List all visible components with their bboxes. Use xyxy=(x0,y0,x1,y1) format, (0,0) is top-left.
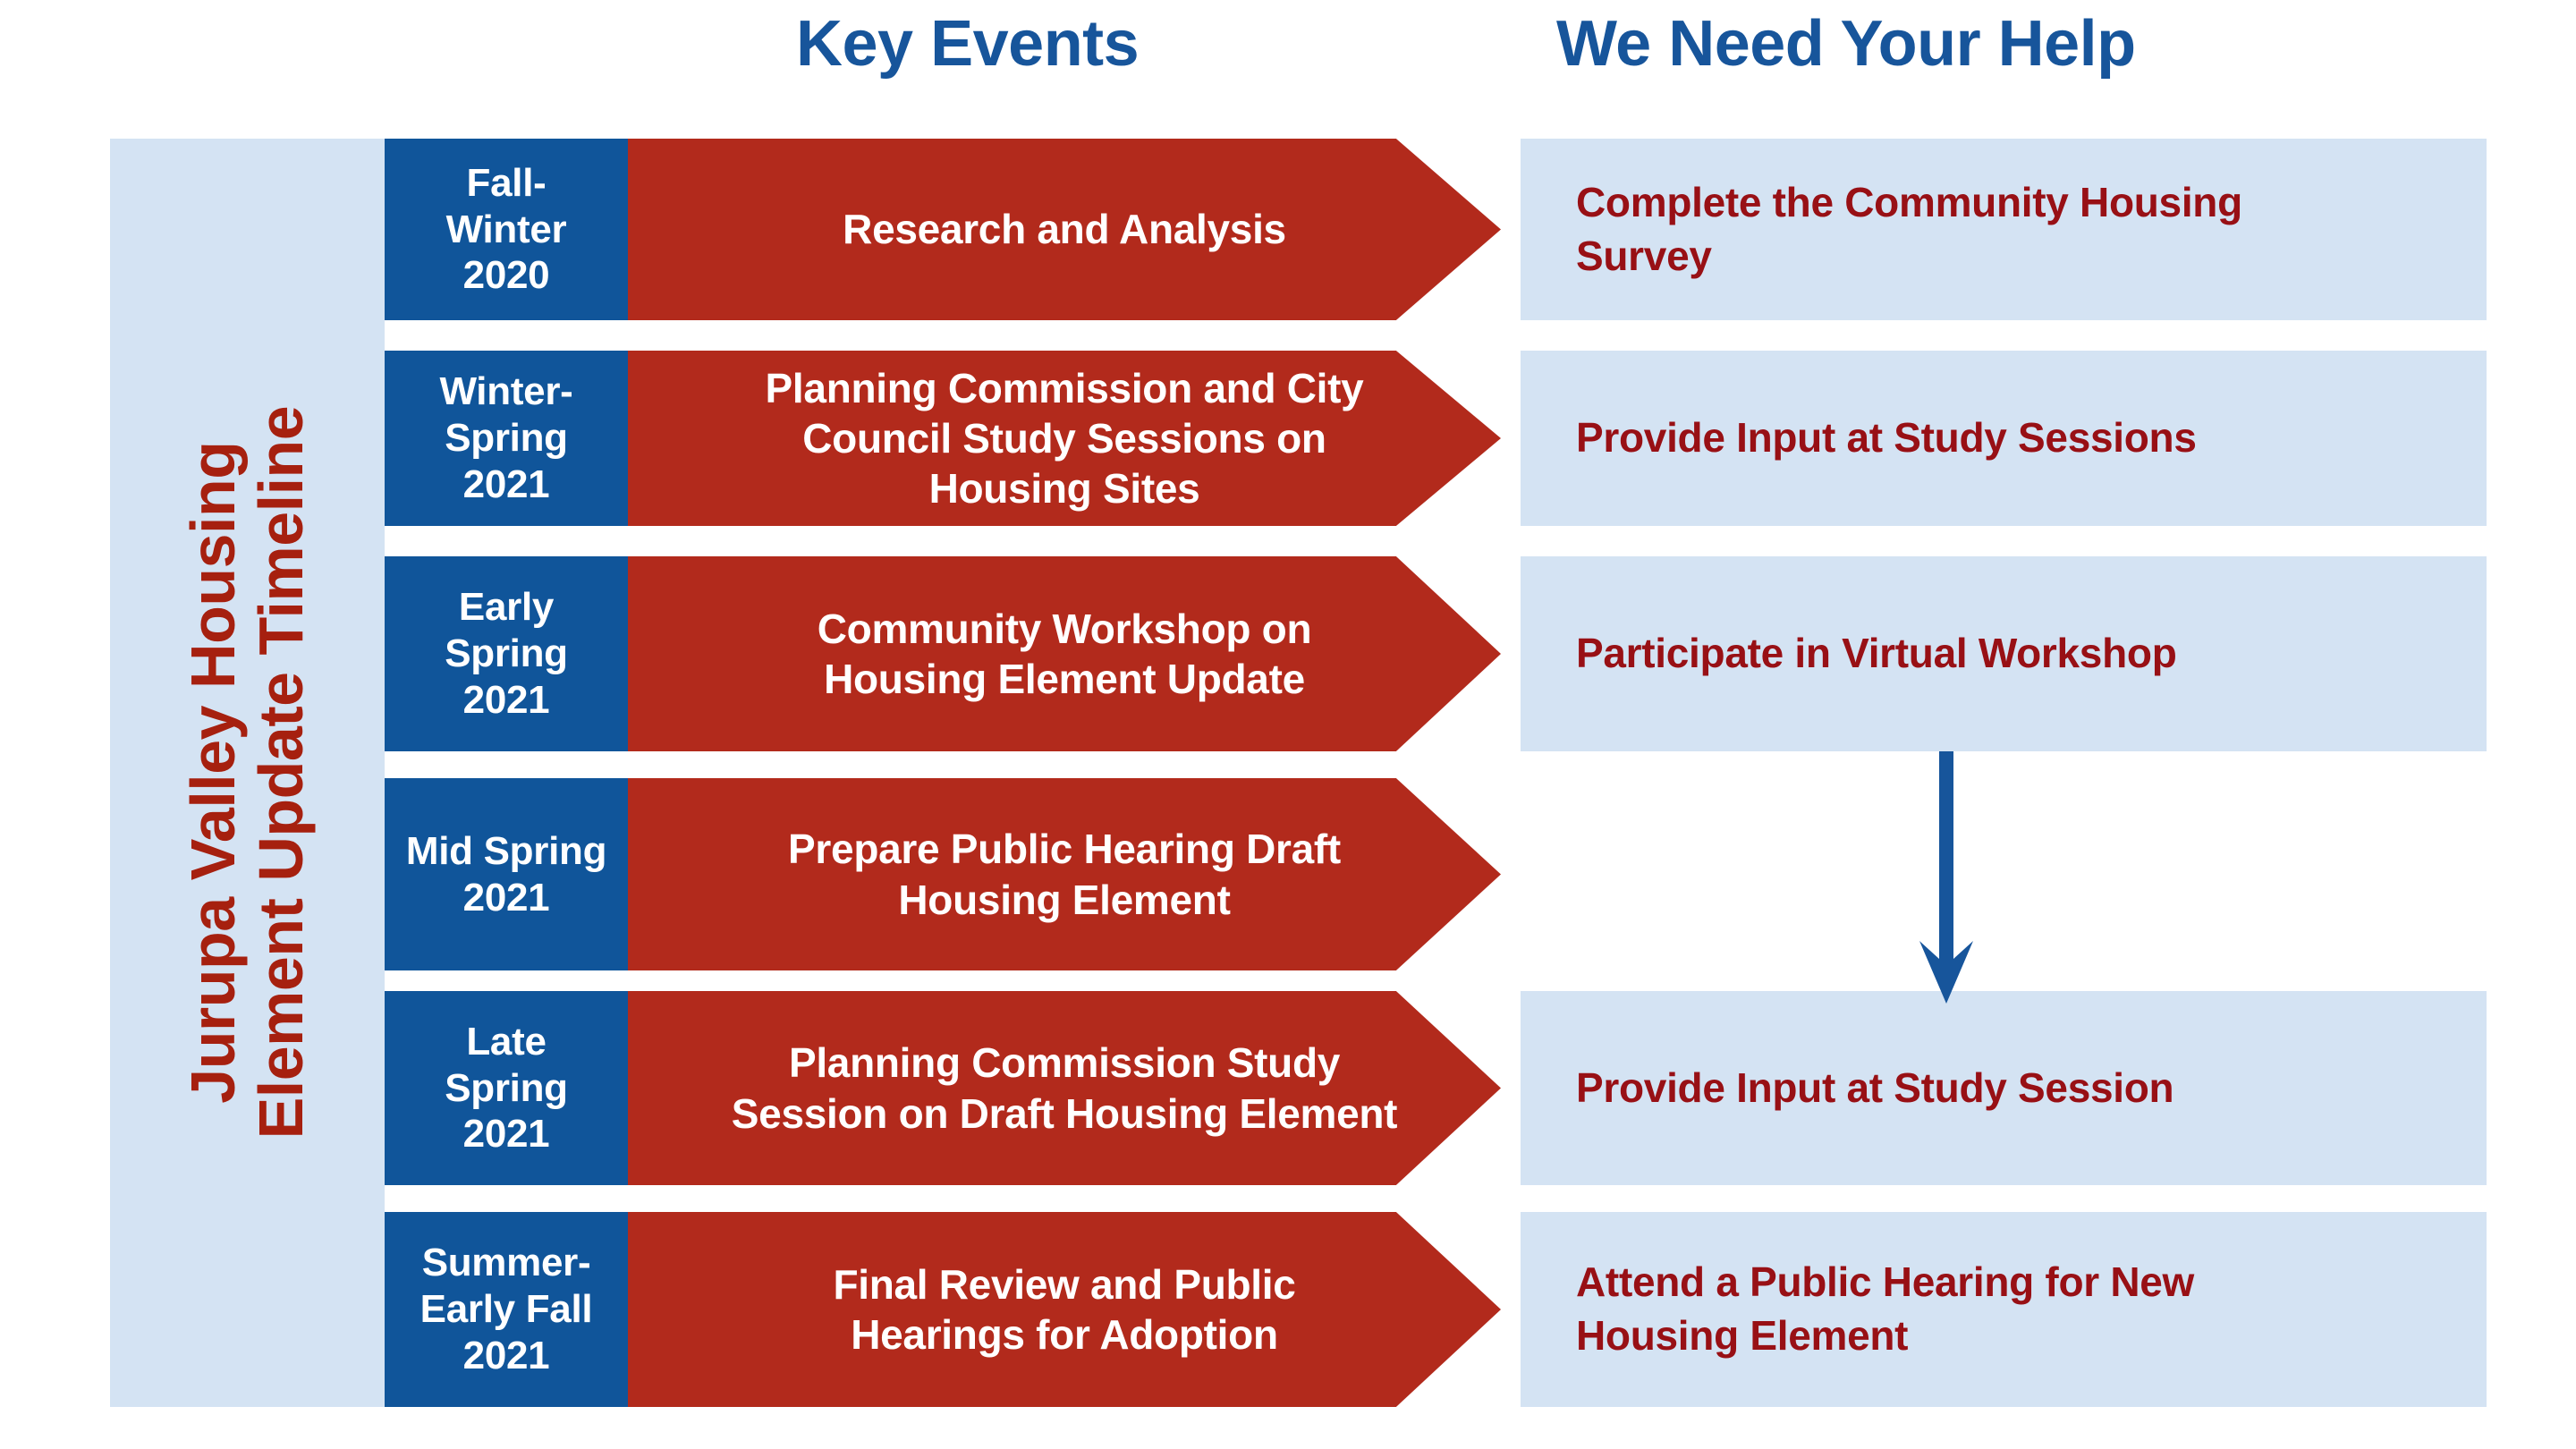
timeline-date-line: Winter- xyxy=(439,369,572,415)
help-action-line: Housing Element xyxy=(1576,1309,2470,1363)
timeline-event-line: Planning Commission Study xyxy=(780,1038,1349,1088)
timeline-event-line: Housing Element Update xyxy=(815,654,1314,704)
timeline-date-line: Fall- xyxy=(467,160,547,207)
help-action-text: Participate in Virtual Workshop xyxy=(1576,556,2470,751)
timeline-date-line: 2021 xyxy=(463,1333,550,1379)
left-title-panel: Jurupa Valley Housing Element Update Tim… xyxy=(110,139,385,1407)
timeline-date-line: 2021 xyxy=(463,462,550,508)
timeline-date-line: Early xyxy=(459,584,554,631)
column-header-key-events: Key Events xyxy=(796,7,1139,80)
help-action-text: Complete the Community HousingSurvey xyxy=(1576,139,2470,320)
page-title: Jurupa Valley Housing Element Update Tim… xyxy=(180,406,315,1140)
timeline-event-line: Final Review and Public xyxy=(824,1259,1304,1309)
timeline-date-line: Winter xyxy=(446,207,567,253)
timeline-event-line: Housing Sites xyxy=(920,463,1209,513)
help-action-line: Complete the Community Housing xyxy=(1576,176,2470,230)
help-action-text: Attend a Public Hearing for NewHousing E… xyxy=(1576,1212,2470,1407)
page-title-line-2: Element Update Timeline xyxy=(248,406,316,1140)
timeline-infographic: Key Events We Need Your Help Jurupa Vall… xyxy=(0,0,2576,1449)
timeline-date-line: Early Fall xyxy=(420,1286,593,1333)
left-title-rotation-wrapper: Jurupa Valley Housing Element Update Tim… xyxy=(110,139,385,1407)
timeline-event-line: Planning Commission and City xyxy=(757,363,1373,413)
timeline-date-line: Spring xyxy=(445,415,568,462)
timeline-date-line: Spring xyxy=(445,631,568,677)
timeline-event-arrow: Final Review and PublicHearings for Adop… xyxy=(628,1212,1501,1407)
column-header-we-need-your-help: We Need Your Help xyxy=(1556,7,2136,80)
row-background-band xyxy=(1521,778,2487,970)
timeline-date-line: 2021 xyxy=(463,1111,550,1157)
timeline-event-arrow: Research and Analysis xyxy=(628,139,1501,320)
timeline-event-line: Hearings for Adoption xyxy=(842,1309,1287,1360)
timeline-date-line: Late xyxy=(466,1019,546,1065)
help-action-text: Provide Input at Study Session xyxy=(1576,991,2470,1185)
timeline-date-box: Mid Spring2021 xyxy=(385,778,628,970)
timeline-event-line: Council Study Sessions on xyxy=(793,413,1335,463)
timeline-date-box: EarlySpring2021 xyxy=(385,556,628,751)
timeline-date-line: 2021 xyxy=(463,677,550,724)
help-action-line: Provide Input at Study Session xyxy=(1576,1062,2470,1115)
help-action-line: Attend a Public Hearing for New xyxy=(1576,1256,2470,1309)
timeline-event-arrow: Planning Commission and CityCouncil Stud… xyxy=(628,351,1501,526)
help-action-line: Participate in Virtual Workshop xyxy=(1576,627,2470,681)
help-action-line: Survey xyxy=(1576,230,2470,284)
page-title-line-1: Jurupa Valley Housing xyxy=(180,406,248,1140)
timeline-event-line: Prepare Public Hearing Draft xyxy=(779,824,1350,874)
timeline-event-line: Housing Element xyxy=(889,875,1239,925)
timeline-date-box: Winter-Spring2021 xyxy=(385,351,628,526)
timeline-event-arrow: Community Workshop onHousing Element Upd… xyxy=(628,556,1501,751)
timeline-date-line: Summer- xyxy=(422,1240,591,1286)
timeline-date-line: 2020 xyxy=(463,252,550,299)
timeline-date-line: Mid Spring xyxy=(406,828,606,875)
help-action-line: Provide Input at Study Sessions xyxy=(1576,411,2470,465)
timeline-event-line: Research and Analysis xyxy=(834,204,1295,254)
timeline-event-arrow: Prepare Public Hearing DraftHousing Elem… xyxy=(628,778,1501,970)
down-arrow-icon xyxy=(1903,751,1989,1004)
timeline-date-line: 2021 xyxy=(463,875,550,921)
timeline-date-line: Spring xyxy=(445,1065,568,1112)
timeline-date-box: Fall-Winter2020 xyxy=(385,139,628,320)
help-action-text: Provide Input at Study Sessions xyxy=(1576,351,2470,526)
timeline-date-box: LateSpring2021 xyxy=(385,991,628,1185)
timeline-event-arrow: Planning Commission StudySession on Draf… xyxy=(628,991,1501,1185)
timeline-event-line: Session on Draft Housing Element xyxy=(723,1089,1406,1139)
timeline-date-box: Summer-Early Fall2021 xyxy=(385,1212,628,1407)
timeline-event-line: Community Workshop on xyxy=(809,604,1321,654)
